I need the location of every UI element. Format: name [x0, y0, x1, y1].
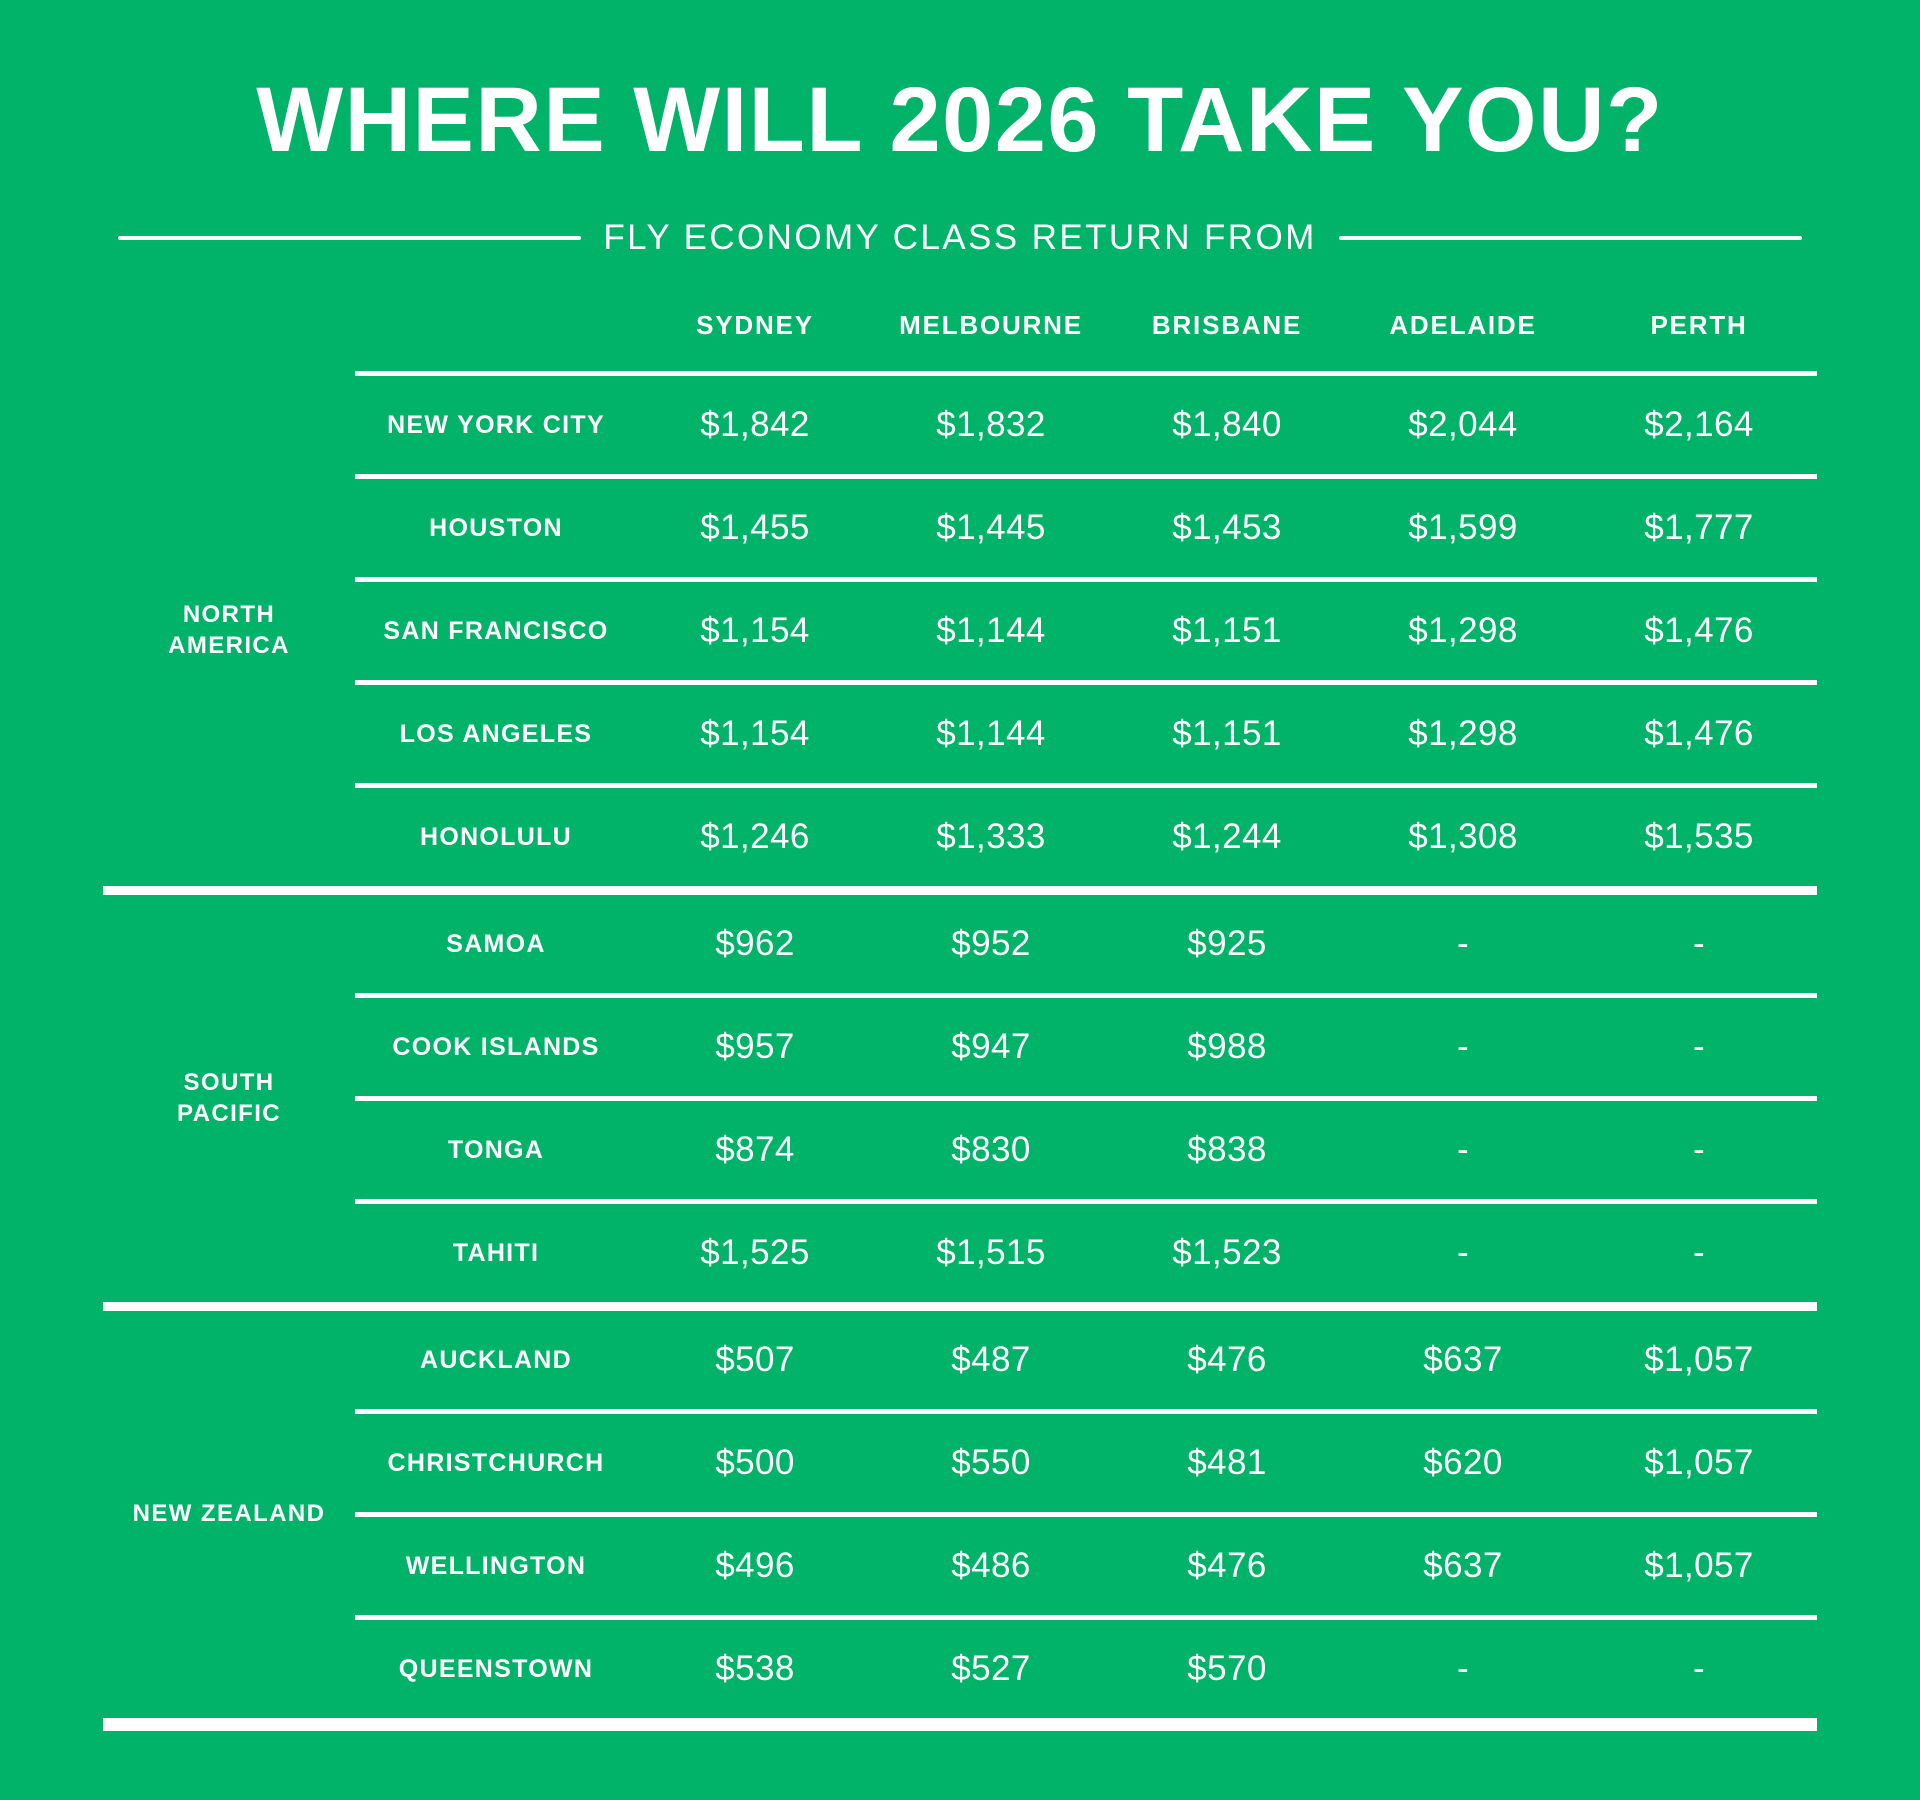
price-cell: $2,164 — [1581, 376, 1817, 474]
table-row: HONOLULU$1,246$1,333$1,244$1,308$1,535 — [103, 788, 1817, 886]
table-row: SAN FRANCISCO$1,154$1,144$1,151$1,298$1,… — [103, 582, 1817, 680]
table-row: NORTHAMERICANEW YORK CITY$1,842$1,832$1,… — [103, 376, 1817, 474]
price-cell: $1,445 — [873, 479, 1109, 577]
price-cell: $2,044 — [1345, 376, 1581, 474]
price-cell: - — [1581, 1204, 1817, 1302]
price-cell: - — [1345, 1204, 1581, 1302]
price-cell: $1,333 — [873, 788, 1109, 886]
column-header-sydney: SYDNEY — [637, 310, 873, 371]
price-cell: - — [1581, 1101, 1817, 1199]
price-cell: $1,523 — [1109, 1204, 1345, 1302]
price-cell: - — [1345, 895, 1581, 993]
region-label-line-2: PACIFIC — [104, 1099, 354, 1130]
region-label: NORTHAMERICA — [103, 376, 355, 886]
price-cell: $1,455 — [637, 479, 873, 577]
price-cell: $1,453 — [1109, 479, 1345, 577]
table-row: TONGA$874$830$838-- — [103, 1101, 1817, 1199]
price-cell: $1,057 — [1581, 1414, 1817, 1512]
price-cell: - — [1345, 998, 1581, 1096]
price-cell: $1,298 — [1345, 582, 1581, 680]
table-row: HOUSTON$1,455$1,445$1,453$1,599$1,777 — [103, 479, 1817, 577]
city-label: NEW YORK CITY — [355, 376, 637, 474]
price-cell: $620 — [1345, 1414, 1581, 1512]
column-header-row: SYDNEY MELBOURNE BRISBANE ADELAIDE PERTH — [103, 310, 1817, 371]
price-cell: - — [1345, 1101, 1581, 1199]
city-label: SAMOA — [355, 895, 637, 993]
price-cell: $550 — [873, 1414, 1109, 1512]
table-row: COOK ISLANDS$957$947$988-- — [103, 998, 1817, 1096]
table-row: TAHITI$1,525$1,515$1,523-- — [103, 1204, 1817, 1302]
section-divider — [103, 886, 1817, 895]
city-column-header — [355, 310, 637, 371]
region-label-line-1: NORTH — [104, 600, 354, 631]
city-label: WELLINGTON — [355, 1517, 637, 1615]
fares-table-body: NORTHAMERICANEW YORK CITY$1,842$1,832$1,… — [103, 376, 1817, 1731]
price-cell: $637 — [1345, 1517, 1581, 1615]
city-label: SAN FRANCISCO — [355, 582, 637, 680]
region-label-line-1: SOUTH — [104, 1068, 354, 1099]
subtitle-text: FLY ECONOMY CLASS RETURN FROM — [581, 218, 1338, 258]
table-row: CHRISTCHURCH$500$550$481$620$1,057 — [103, 1414, 1817, 1512]
region-label: SOUTHPACIFIC — [103, 895, 355, 1302]
subtitle-rule-left — [118, 236, 581, 240]
city-label: CHRISTCHURCH — [355, 1414, 637, 1512]
price-cell: $476 — [1109, 1311, 1345, 1409]
price-cell: $1,151 — [1109, 582, 1345, 680]
city-label: COOK ISLANDS — [355, 998, 637, 1096]
price-cell: $1,154 — [637, 685, 873, 783]
price-cell: $527 — [873, 1620, 1109, 1718]
table-bottom-border — [103, 1718, 1817, 1731]
price-cell: $1,154 — [637, 582, 873, 680]
price-cell: $1,832 — [873, 376, 1109, 474]
price-cell: $952 — [873, 895, 1109, 993]
price-cell: $496 — [637, 1517, 873, 1615]
price-cell: $874 — [637, 1101, 873, 1199]
city-label: HOUSTON — [355, 479, 637, 577]
price-cell: $947 — [873, 998, 1109, 1096]
column-header-perth: PERTH — [1581, 310, 1817, 371]
price-cell: $538 — [637, 1620, 873, 1718]
subtitle-row: FLY ECONOMY CLASS RETURN FROM — [0, 218, 1920, 258]
price-cell: $1,308 — [1345, 788, 1581, 886]
price-cell: $1,057 — [1581, 1517, 1817, 1615]
price-cell: $1,535 — [1581, 788, 1817, 886]
price-cell: $1,842 — [637, 376, 873, 474]
price-cell: - — [1581, 1620, 1817, 1718]
price-cell: $962 — [637, 895, 873, 993]
city-label: TONGA — [355, 1101, 637, 1199]
price-cell: $1,298 — [1345, 685, 1581, 783]
price-cell: $988 — [1109, 998, 1345, 1096]
page-header: WHERE WILL 2026 TAKE YOU? FLY ECONOMY CL… — [0, 0, 1920, 258]
section-divider — [103, 1302, 1817, 1311]
fares-table-head: SYDNEY MELBOURNE BRISBANE ADELAIDE PERTH — [103, 310, 1817, 376]
fares-table: SYDNEY MELBOURNE BRISBANE ADELAIDE PERTH… — [103, 310, 1817, 1731]
price-cell: $1,246 — [637, 788, 873, 886]
table-row: LOS ANGELES$1,154$1,144$1,151$1,298$1,47… — [103, 685, 1817, 783]
city-label: HONOLULU — [355, 788, 637, 886]
price-cell: $1,057 — [1581, 1311, 1817, 1409]
price-cell: $1,840 — [1109, 376, 1345, 474]
price-cell: $481 — [1109, 1414, 1345, 1512]
column-header-adelaide: ADELAIDE — [1345, 310, 1581, 371]
price-cell: $925 — [1109, 895, 1345, 993]
region-column-header — [103, 310, 355, 371]
price-cell: - — [1345, 1620, 1581, 1718]
subtitle-rule-right — [1339, 236, 1802, 240]
table-row: SOUTHPACIFICSAMOA$962$952$925-- — [103, 895, 1817, 993]
city-label: QUEENSTOWN — [355, 1620, 637, 1718]
table-row: NEW ZEALANDAUCKLAND$507$487$476$637$1,05… — [103, 1311, 1817, 1409]
price-cell: $1,599 — [1345, 479, 1581, 577]
column-header-melbourne: MELBOURNE — [873, 310, 1109, 371]
price-cell: $1,144 — [873, 685, 1109, 783]
table-row: WELLINGTON$496$486$476$637$1,057 — [103, 1517, 1817, 1615]
price-cell: $637 — [1345, 1311, 1581, 1409]
page-title: WHERE WILL 2026 TAKE YOU? — [0, 74, 1920, 166]
price-cell: $1,151 — [1109, 685, 1345, 783]
price-cell: $500 — [637, 1414, 873, 1512]
price-cell: $486 — [873, 1517, 1109, 1615]
column-header-brisbane: BRISBANE — [1109, 310, 1345, 371]
price-cell: $476 — [1109, 1517, 1345, 1615]
region-label: NEW ZEALAND — [103, 1311, 355, 1718]
city-label: LOS ANGELES — [355, 685, 637, 783]
price-cell: $1,144 — [873, 582, 1109, 680]
price-cell: $507 — [637, 1311, 873, 1409]
price-cell: $570 — [1109, 1620, 1345, 1718]
price-cell: - — [1581, 998, 1817, 1096]
price-cell: $1,476 — [1581, 685, 1817, 783]
region-label-line-2: AMERICA — [104, 631, 354, 662]
price-cell: $830 — [873, 1101, 1109, 1199]
city-label: AUCKLAND — [355, 1311, 637, 1409]
price-cell: $838 — [1109, 1101, 1345, 1199]
city-label: TAHITI — [355, 1204, 637, 1302]
price-cell: $1,525 — [637, 1204, 873, 1302]
price-cell: $487 — [873, 1311, 1109, 1409]
table-row: QUEENSTOWN$538$527$570-- — [103, 1620, 1817, 1718]
fares-table-container: SYDNEY MELBOURNE BRISBANE ADELAIDE PERTH… — [0, 310, 1920, 1731]
price-cell: $1,244 — [1109, 788, 1345, 886]
price-cell: $1,515 — [873, 1204, 1109, 1302]
price-cell: $957 — [637, 998, 873, 1096]
price-cell: $1,777 — [1581, 479, 1817, 577]
price-cell: $1,476 — [1581, 582, 1817, 680]
price-cell: - — [1581, 895, 1817, 993]
